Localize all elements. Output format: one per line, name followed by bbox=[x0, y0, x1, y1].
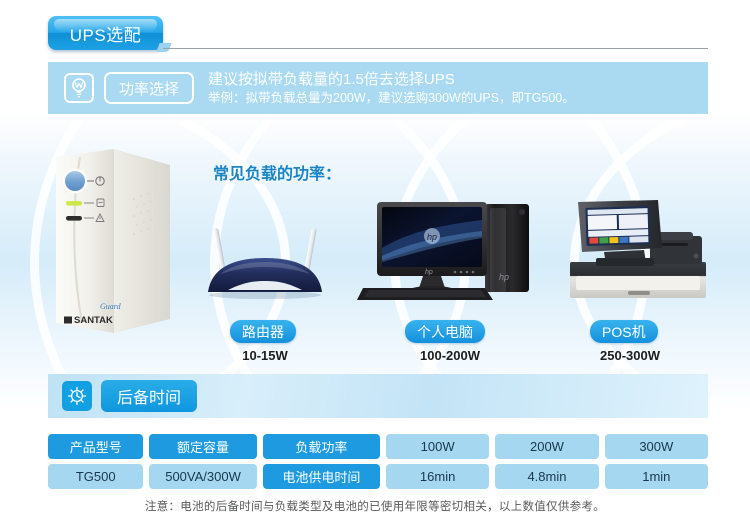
power-advice-text: 建议按拟带负载量的1.5倍去选择UPS 举例：拟带负载总量为200W，建议选购3… bbox=[208, 70, 575, 106]
power-selection-label: 功率选择 bbox=[119, 78, 179, 99]
svg-text:Guard: Guard bbox=[100, 302, 122, 311]
runtime-value-100w: 16min bbox=[386, 464, 489, 489]
table-row: 产品型号 额定容量 负载功率 100W 200W 300W bbox=[48, 434, 708, 459]
device-label-text: 路由器 bbox=[242, 322, 284, 342]
header-model: 产品型号 bbox=[48, 434, 143, 459]
page-title: UPS选配 bbox=[70, 21, 141, 46]
power-selection-banner: 功率选择 建议按拟带负载量的1.5倍去选择UPS 举例：拟带负载总量为200W，… bbox=[48, 62, 708, 114]
device-watt-router: 10-15W bbox=[205, 348, 325, 363]
load-value-300w: 300W bbox=[605, 434, 708, 459]
device-watt-pos: 250-300W bbox=[570, 348, 690, 363]
power-selection-pill: 功率选择 bbox=[104, 72, 194, 104]
value-capacity: 500VA/300W bbox=[149, 464, 256, 489]
svg-text:hp: hp bbox=[499, 272, 509, 282]
device-label-pc: 个人电脑 bbox=[405, 320, 485, 343]
header-battery-runtime: 电池供电时间 bbox=[263, 464, 380, 489]
svg-text:hp: hp bbox=[425, 269, 433, 276]
load-value-100w: 100W bbox=[386, 434, 489, 459]
ups-unit-icon: Guard SANTAK bbox=[42, 143, 177, 338]
spec-table: 产品型号 额定容量 负载功率 100W 200W 300W TG500 500V… bbox=[48, 434, 708, 494]
power-advice-line2: 举例：拟带负载总量为200W，建议选购300W的UPS，即TG500。 bbox=[208, 90, 575, 107]
device-label-router: 路由器 bbox=[230, 320, 296, 343]
svg-text:hp: hp bbox=[427, 232, 437, 242]
page-title-tab: UPS选配 bbox=[48, 16, 163, 50]
header-divider bbox=[163, 48, 708, 49]
power-advice-line1: 建议按拟带负载量的1.5倍去选择UPS bbox=[208, 70, 575, 90]
router-icon bbox=[190, 228, 340, 303]
value-model: TG500 bbox=[48, 464, 143, 489]
device-label-pos: POS机 bbox=[590, 320, 658, 343]
ups-spec-page: UPS选配 功率选择 建议按拟带负载量的1.5倍去选择UPS 举例：拟带负载总量… bbox=[0, 0, 750, 523]
table-row: TG500 500VA/300W 电池供电时间 16min 4.8min 1mi… bbox=[48, 464, 708, 489]
runtime-value-200w: 4.8min bbox=[495, 464, 598, 489]
common-loads-heading: 常见负载的功率： bbox=[213, 160, 341, 184]
lightbulb-watt-icon bbox=[64, 73, 94, 103]
load-value-200w: 200W bbox=[495, 434, 598, 459]
device-label-text: POS机 bbox=[602, 322, 646, 342]
backup-time-label: 后备时间 bbox=[117, 384, 181, 408]
header-capacity: 额定容量 bbox=[149, 434, 256, 459]
backup-time-pill: 后备时间 bbox=[101, 380, 197, 412]
runtime-value-300w: 1min bbox=[605, 464, 708, 489]
device-label-text: 个人电脑 bbox=[417, 322, 473, 342]
clock-icon bbox=[62, 381, 92, 411]
desktop-computer-icon: hp hp hp bbox=[357, 196, 537, 308]
footnote: 注意：电池的后备时间与负载类型及电池的已使用年限等密切相关，以上数值仅供参考。 bbox=[0, 498, 750, 514]
device-watt-pc: 100-200W bbox=[390, 348, 510, 363]
backup-time-banner: 后备时间 bbox=[48, 374, 708, 418]
svg-text:SANTAK: SANTAK bbox=[74, 315, 113, 326]
header-load-power: 负载功率 bbox=[263, 434, 380, 459]
pos-terminal-icon bbox=[558, 196, 723, 308]
